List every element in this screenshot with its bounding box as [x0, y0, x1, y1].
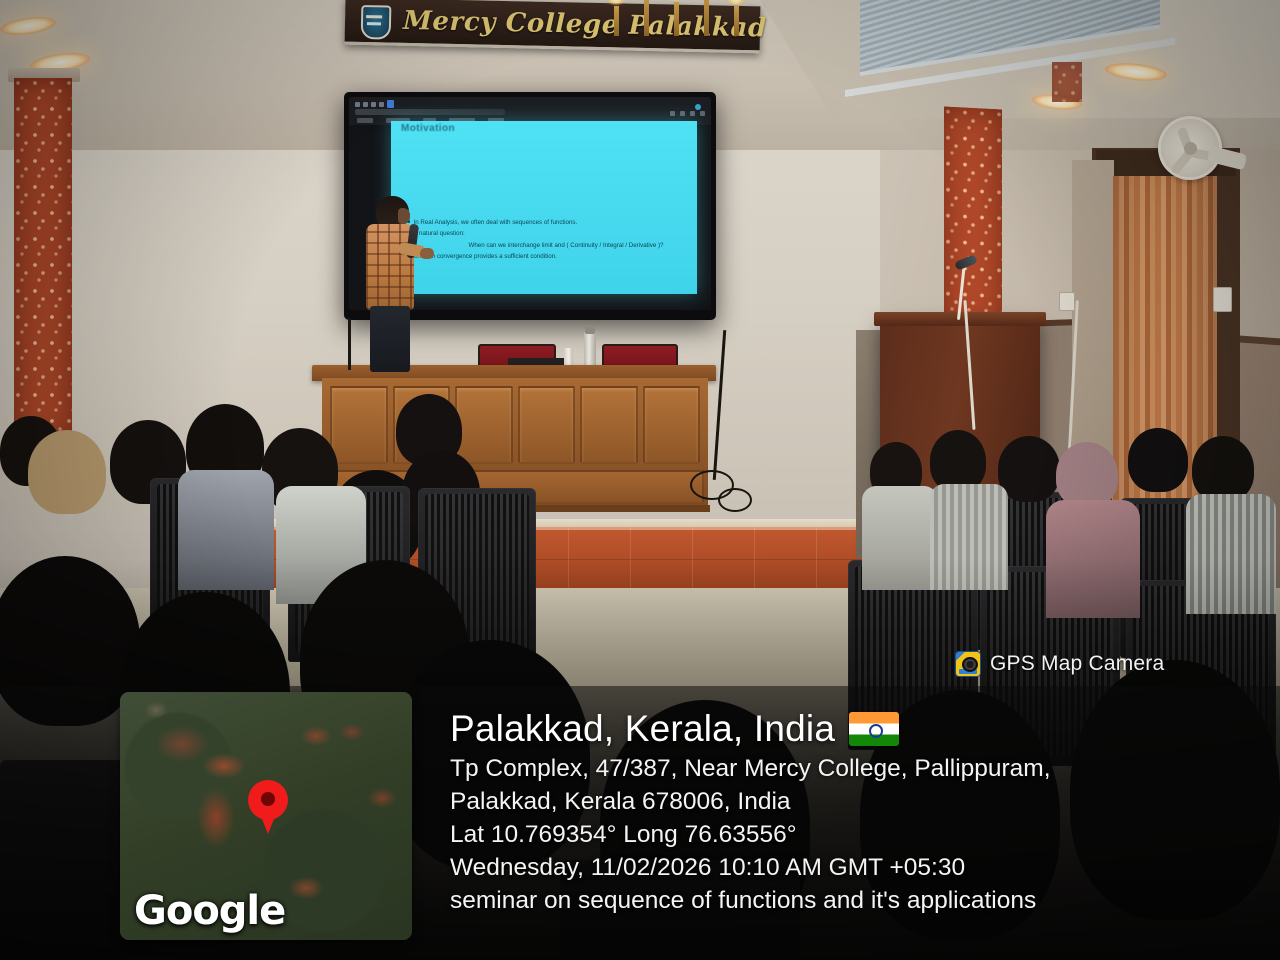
bottle-cap	[585, 327, 595, 334]
presenter-trousers	[370, 306, 410, 372]
camera-app-icon	[955, 651, 981, 677]
table-panel	[518, 386, 576, 464]
map-pin-icon	[248, 780, 288, 834]
audience-member-body	[862, 486, 938, 590]
document-title-bar	[355, 109, 505, 115]
minimize-icon[interactable]	[680, 111, 685, 116]
presenter-hand	[420, 248, 434, 259]
chandelier-arm	[644, 0, 649, 36]
chandelier-lamp	[606, 0, 626, 4]
table-panel-row	[330, 386, 700, 464]
gps-location-name: Palakkad, Kerala, India	[450, 706, 835, 752]
wall-switch-plate[interactable]	[1213, 287, 1232, 312]
gps-caption: seminar on sequence of functions and it'…	[450, 884, 1250, 917]
presenter	[362, 196, 420, 372]
seminar-photo-screenshot: Mercy College Palakkad	[0, 0, 1280, 960]
slide-bullet-text: A natural question:	[414, 228, 465, 239]
floor-cable	[718, 488, 752, 512]
fan-hub	[1184, 142, 1197, 155]
presenter-face	[398, 208, 410, 224]
slide-bullet-text: In Real Analysis, we often deal with seq…	[414, 217, 578, 228]
map-pin-tail	[256, 804, 280, 834]
window-controls[interactable]	[670, 111, 705, 116]
audience-member-hijab	[1056, 442, 1118, 508]
table-panel	[643, 386, 701, 464]
status-dot-icon	[695, 104, 701, 110]
toolbar-icon[interactable]	[355, 102, 360, 107]
google-watermark: Google	[134, 888, 285, 934]
gps-location-title: Palakkad, Kerala, India	[450, 706, 1250, 752]
gps-app-name: GPS Map Camera	[990, 652, 1164, 676]
chandelier-lamp	[726, 0, 746, 4]
audience-member-body	[1046, 500, 1140, 618]
table-panel	[580, 386, 638, 464]
toolbar-icon[interactable]	[363, 102, 368, 107]
toolbar-icon[interactable]	[379, 102, 384, 107]
gps-coordinates: Lat 10.769354° Long 76.63556°	[450, 818, 1250, 851]
slide-bullet: In Real Analysis, we often deal with seq…	[407, 217, 685, 228]
table-panel	[455, 386, 513, 464]
refresh-icon[interactable]	[670, 111, 675, 116]
audience-member-scarf	[28, 430, 106, 514]
gps-map-camera-badge: GPS Map Camera	[955, 651, 1164, 677]
gps-datetime: Wednesday, 11/02/2026 10:10 AM GMT +05:3…	[450, 851, 1250, 884]
audience-member	[930, 430, 986, 492]
close-icon[interactable]	[700, 111, 705, 116]
document-icon[interactable]	[387, 100, 394, 108]
audience-member	[1128, 428, 1188, 492]
display-cable	[348, 318, 351, 370]
toolbar-icon[interactable]	[371, 102, 376, 107]
gps-map-thumbnail[interactable]: Google	[120, 692, 412, 940]
wall-socket-plate[interactable]	[1059, 292, 1075, 311]
map-pin-hole	[261, 792, 275, 806]
chandelier	[600, 0, 800, 36]
crest-band	[366, 15, 382, 18]
maximize-icon[interactable]	[690, 111, 695, 116]
chandelier-arm	[614, 6, 619, 36]
college-crest-icon	[361, 5, 392, 40]
audience-member	[1192, 436, 1254, 502]
slide-title: Motivation	[401, 123, 455, 134]
slide-bullet-text: When can we interchange limit and ( Cont…	[407, 240, 685, 251]
table-panel	[330, 386, 388, 464]
audience-member-body	[1186, 494, 1276, 614]
gps-text-block: Palakkad, Kerala, India Tp Complex, 47/3…	[450, 706, 1250, 917]
jali-column-upper	[1052, 62, 1082, 102]
presenter-shirt	[366, 224, 414, 310]
jali-column-left	[14, 78, 72, 438]
slide-bullet: Uniform convergence provides a sufficien…	[407, 251, 685, 262]
chandelier-arm	[674, 2, 679, 36]
india-flag-icon	[849, 712, 899, 746]
chandelier-arm	[734, 6, 739, 36]
slide-body: In Real Analysis, we often deal with seq…	[407, 217, 685, 263]
crest-band	[367, 22, 381, 25]
menu-item-file[interactable]	[357, 118, 373, 123]
gps-address-line-2: Palakkad, Kerala 678006, India	[450, 785, 1250, 818]
chandelier-arm	[704, 0, 709, 36]
slide-bullet: A natural question:	[407, 228, 685, 239]
gps-address-line-1: Tp Complex, 47/387, Near Mercy College, …	[450, 752, 1250, 785]
slide-bullet-text: Uniform convergence provides a sufficien…	[414, 251, 557, 262]
audience-member	[998, 436, 1060, 502]
app-toolbar-icons[interactable]	[355, 100, 394, 108]
drinking-glass	[564, 348, 573, 366]
audience-member-body	[178, 470, 274, 590]
slide-canvas: Motivation In Real Analysis, we often de…	[391, 121, 697, 294]
audience-member-body	[930, 484, 1008, 590]
